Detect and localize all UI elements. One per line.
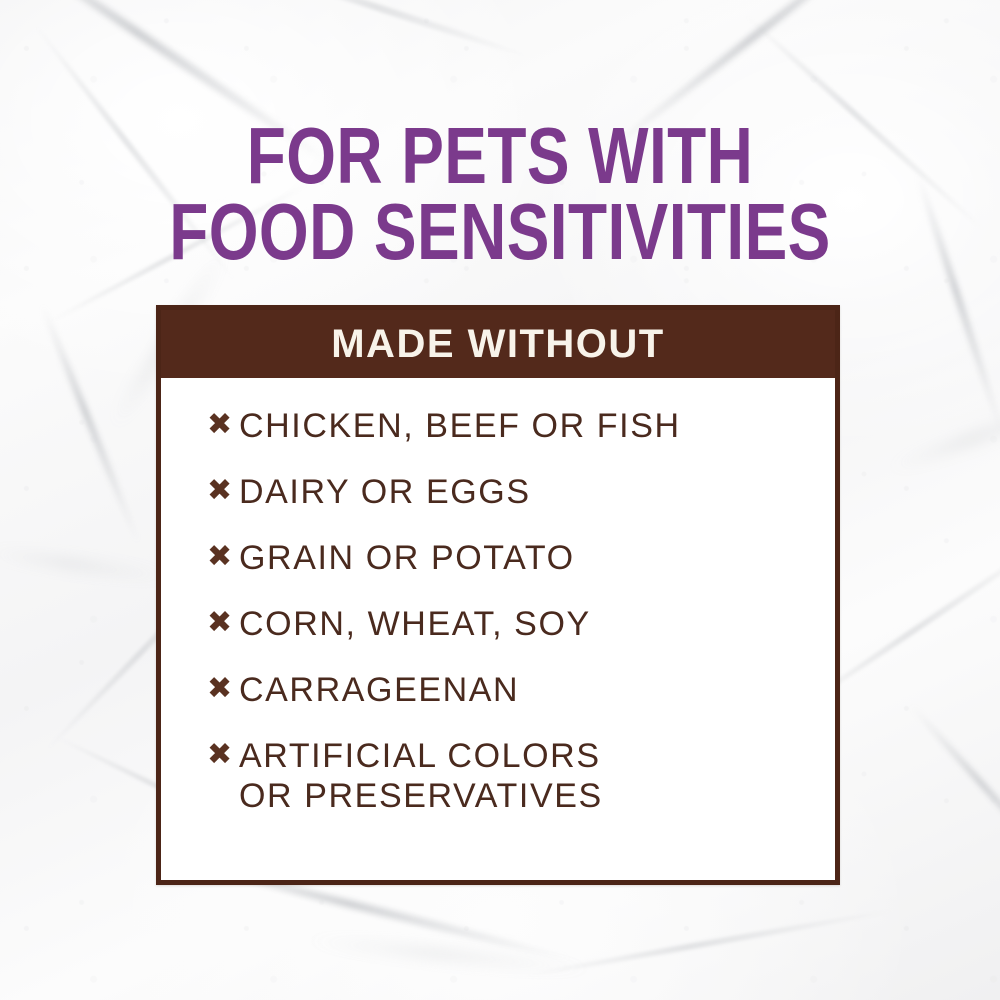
page-title-line-2: FOOD SENSITIVITIES (100, 194, 900, 270)
x-mark-icon: ✖ (207, 670, 239, 708)
list-item-label: DAIRY OR EGGS (239, 472, 531, 512)
list-item: ✖ CHICKEN, BEEF OR FISH (207, 406, 835, 446)
made-without-list: ✖ CHICKEN, BEEF OR FISH ✖ DAIRY OR EGGS … (207, 406, 835, 816)
list-item: ✖ DAIRY OR EGGS (207, 472, 835, 512)
card-header-title: MADE WITHOUT (331, 324, 665, 364)
list-item-label: GRAIN OR POTATO (239, 538, 575, 578)
x-mark-icon: ✖ (207, 538, 239, 576)
page-title: FOR PETS WITH FOOD SENSITIVITIES (100, 118, 900, 270)
list-item: ✖ ARTIFICIAL COLORS OR PRESERVATIVES (207, 736, 835, 816)
list-item-label: CORN, WHEAT, SOY (239, 604, 591, 644)
page-title-line-1: FOR PETS WITH (100, 118, 900, 194)
made-without-card: MADE WITHOUT ✖ CHICKEN, BEEF OR FISH ✖ D… (156, 305, 840, 885)
card-body: ✖ CHICKEN, BEEF OR FISH ✖ DAIRY OR EGGS … (161, 378, 835, 816)
x-mark-icon: ✖ (207, 736, 239, 774)
poster-canvas: FOR PETS WITH FOOD SENSITIVITIES MADE WI… (0, 0, 1000, 1000)
x-mark-icon: ✖ (207, 604, 239, 642)
x-mark-icon: ✖ (207, 472, 239, 510)
list-item-label: CHICKEN, BEEF OR FISH (239, 406, 681, 446)
card-header-bar: MADE WITHOUT (161, 310, 835, 378)
list-item: ✖ CARRAGEENAN (207, 670, 835, 710)
list-item-label: ARTIFICIAL COLORS OR PRESERVATIVES (239, 736, 603, 816)
list-item: ✖ CORN, WHEAT, SOY (207, 604, 835, 644)
x-mark-icon: ✖ (207, 406, 239, 444)
list-item-label: CARRAGEENAN (239, 670, 519, 710)
list-item: ✖ GRAIN OR POTATO (207, 538, 835, 578)
